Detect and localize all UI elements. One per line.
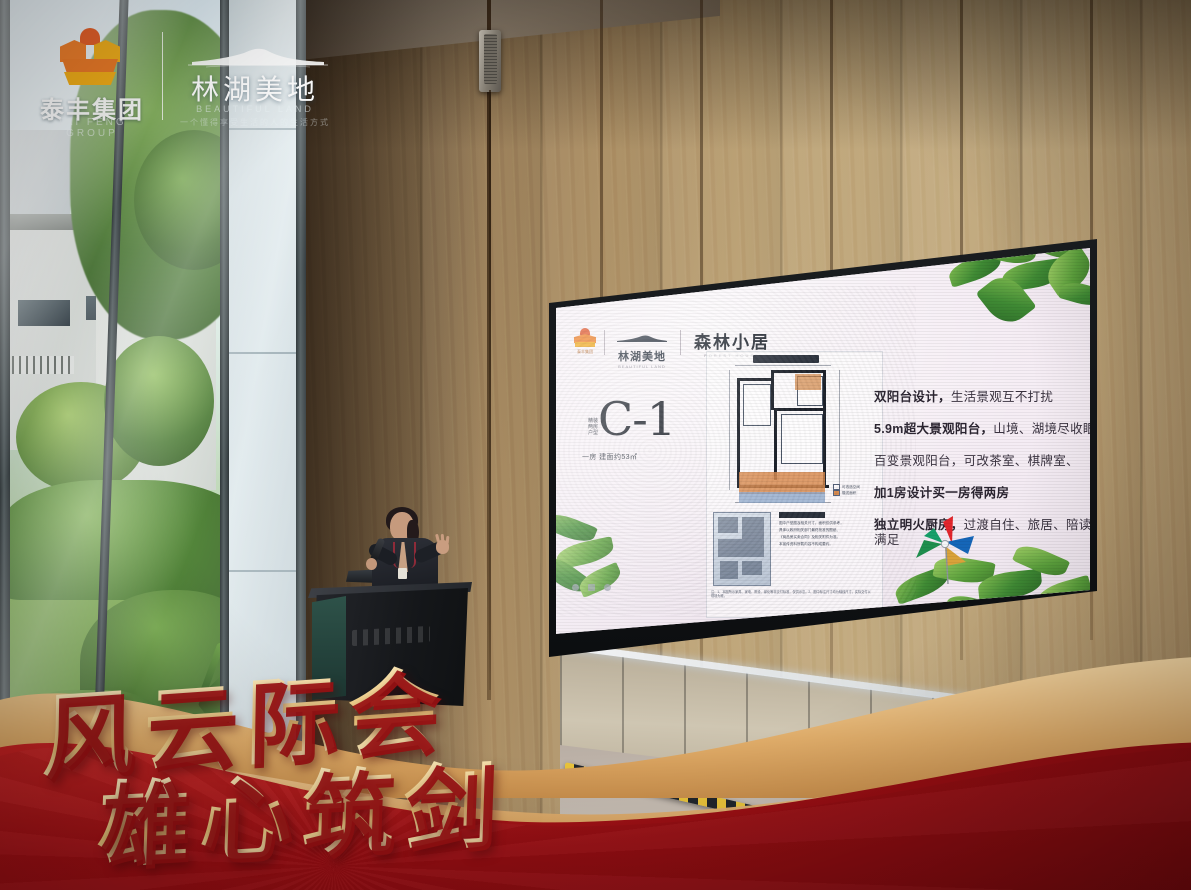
floor-plan-title-bar xyxy=(753,355,819,363)
mountain-lake-icon xyxy=(615,334,669,343)
slide-logo-divider xyxy=(604,330,605,355)
project-logo-name: 林湖美地 xyxy=(180,68,330,108)
bullet-item: 独立明火厨房，过渡自住、旅居、陪读均能满足 xyxy=(874,518,1090,548)
bullet-item: 加1房设计买一房得两房 xyxy=(874,486,1090,501)
brand-divider xyxy=(162,32,163,120)
notes-title-bar xyxy=(779,512,825,518)
project-logo-en: BEAUTIFUL LAND xyxy=(180,104,330,114)
leaf-decoration-bottom-left xyxy=(556,508,660,618)
speaker-grille xyxy=(484,34,497,84)
glass-brand-header: 泰丰集团 TAI FENG GROUP 林湖美地 BEAUTIFUL LAND … xyxy=(20,18,316,130)
bullet-text: 生活景观互不打扰 xyxy=(951,390,1053,404)
speaker-cable xyxy=(489,90,491,690)
project-logo-sub: 一个懂得享受生活的人的生活方式 xyxy=(180,117,330,128)
floor-plan-thumbnail xyxy=(713,512,771,586)
pinwheel-icon xyxy=(912,514,982,584)
bullet-text: 山境、湖境尽收眼底 xyxy=(993,422,1090,436)
slogan-line-2: 雄心筑剑 xyxy=(96,731,508,886)
bullet-item: 双阳台设计，生活景观互不打扰 xyxy=(874,390,1090,405)
bullet-text: 买一房得两房 xyxy=(932,486,1009,500)
finger xyxy=(435,534,440,542)
slide-logo-0-name: 泰丰集团 xyxy=(573,349,597,355)
unit-code: C-1 xyxy=(598,396,675,442)
building-balcony xyxy=(12,356,74,374)
slide-logo-2-name: 森林小居 xyxy=(686,328,778,353)
taifeng-group-logo-icon: 泰丰集团 xyxy=(574,328,596,358)
dot-icon[interactable] xyxy=(604,584,611,591)
floor-plan-footer: 注：1、本图所示家具、家电、陈设、绿化等非交付标准，仅供示意。2、图中标注尺寸均… xyxy=(711,590,871,599)
building-window xyxy=(18,300,70,326)
unit-tag: 精装两房户型 xyxy=(578,418,598,436)
slide-logo-linhumeidi: 林湖美地 BEAUTIFUL LAND xyxy=(610,330,674,369)
wall-speaker xyxy=(479,30,501,92)
square-icon[interactable] xyxy=(588,584,595,591)
banner-slogan: 风云际会 雄心筑剑 xyxy=(0,650,620,880)
unit-code-block: 精装两房户型 C-1 一房 建面约53㎡ xyxy=(578,396,698,486)
stone-joint xyxy=(228,570,306,572)
kitchen-zone xyxy=(795,374,821,390)
bullet-text: 百变景观阳台，可改茶室、棋牌室、 xyxy=(874,454,1079,468)
balcony-zone xyxy=(739,472,825,494)
finger xyxy=(446,536,450,544)
circle-icon[interactable] xyxy=(572,584,579,591)
unit-area: 一房 建面约53㎡ xyxy=(582,452,637,462)
dimension-line xyxy=(735,365,831,366)
bullet-bold: 加1房设计 xyxy=(874,486,932,500)
stone-joint xyxy=(228,352,306,354)
bullet-bold: 双阳台设计， xyxy=(874,390,951,404)
wall-shadow-top xyxy=(300,0,1191,150)
screenshot-root: 泰丰集团 TAI FENG GROUP 林湖美地 BEAUTIFUL LAND … xyxy=(0,0,1191,890)
presentation-slide: 泰丰集团 林湖美地 BEAUTIFUL LAND 森林小居 FOREST HOU… xyxy=(556,246,1090,650)
slide-logo-1-name: 林湖美地 xyxy=(610,348,674,364)
tree-canopy xyxy=(104,336,214,466)
left-hand xyxy=(366,558,377,570)
group-logo-sub: TAI FENG GROUP xyxy=(36,117,148,139)
slide-ui-icons[interactable] xyxy=(572,584,611,591)
balcony-glass-zone xyxy=(739,492,825,503)
finger xyxy=(441,534,445,542)
dimension-line xyxy=(729,370,730,490)
slide-logo-1-sub: BEAUTIFUL LAND xyxy=(610,364,674,369)
hedge xyxy=(0,480,250,600)
name-badge xyxy=(398,568,407,579)
taifeng-group-logo-icon xyxy=(58,28,122,92)
bullet-bold: 5.9m超大景观阳台， xyxy=(874,422,993,436)
slide-logo-divider xyxy=(680,330,681,355)
display-screen[interactable]: 泰丰集团 林湖美地 BEAUTIFUL LAND 森林小居 FOREST HOU… xyxy=(556,246,1090,650)
bullet-item: 5.9m超大景观阳台，山境、湖境尽收眼底 xyxy=(874,422,1090,437)
mountain-lake-icon xyxy=(188,44,328,70)
bullet-item: 百变景观阳台，可改茶室、棋牌室、 xyxy=(874,454,1090,469)
